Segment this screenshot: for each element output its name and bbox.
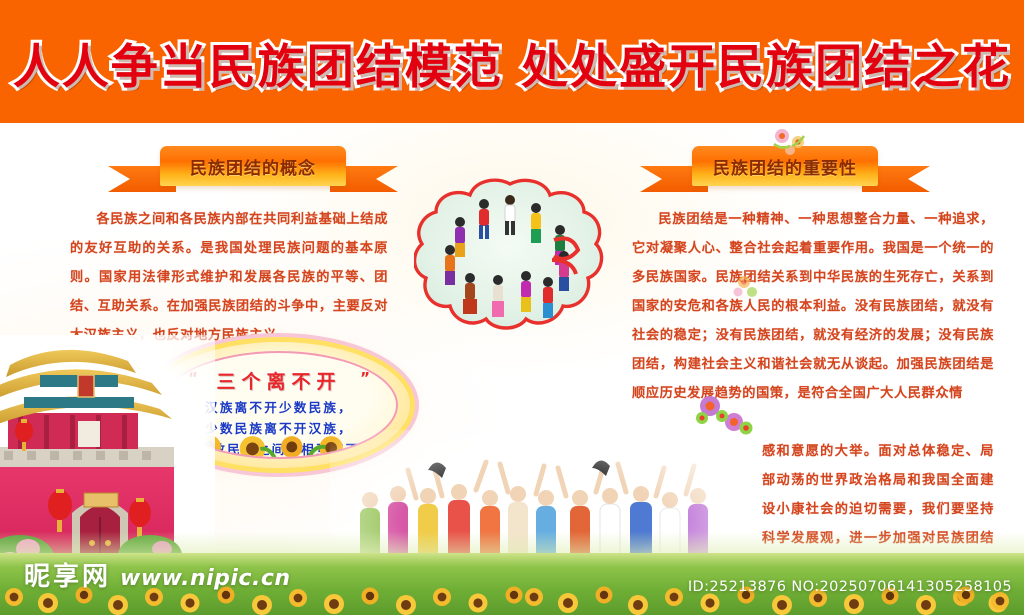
sunflower-field-image	[0, 553, 1024, 615]
flower-decoration-middle-icon	[690, 392, 760, 438]
ethnic-dancers-illustration	[414, 178, 606, 334]
poster-root: 人人争当民族团结模范 处处盛开民族团结之花 民族团结的概念 民族团结的重要性 各…	[0, 0, 1024, 615]
header-band: 人人争当民族团结模范 处处盛开民族团结之花	[0, 0, 1024, 123]
ribbon-body: 民族团结的概念	[160, 146, 346, 186]
flower-decoration-inline-icon	[728, 268, 766, 306]
concept-paragraph: 各民族之间和各民族内部在共同利益基础上结成的友好互助的关系。是我国处理民族问题的…	[70, 205, 388, 350]
sunflower-cluster	[0, 553, 1024, 615]
flower-decoration-top-icon	[760, 126, 824, 160]
page-title: 人人争当民族团结模范 处处盛开民族团结之花	[0, 28, 1024, 97]
importance-paragraph: 民族团结是一种精神、一种思想整合力量、一种追求，它对凝聚人心、整合社会起着重要作…	[632, 205, 994, 408]
banner-concept-label: 民族团结的概念	[190, 154, 316, 179]
banner-concept: 民族团结的概念	[108, 146, 398, 192]
